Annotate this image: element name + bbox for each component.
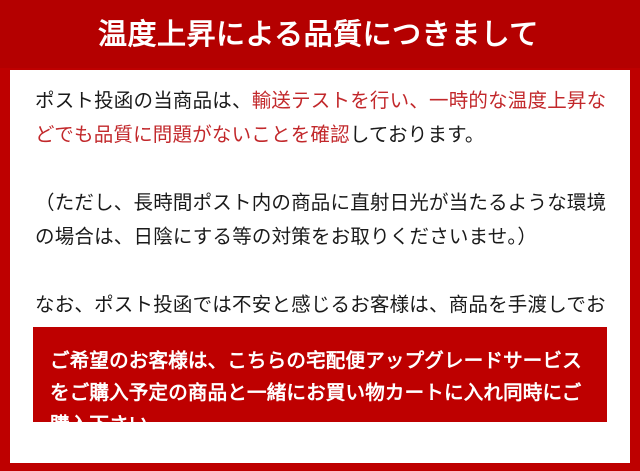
upgrade-service-callout-box: ご希望のお客様は、こちらの宅配便アップグレードサービスをご購入予定の商品と一緒に… bbox=[33, 327, 607, 422]
banner-content-panel: ポスト投函の当商品は、輸送テストを行い、一時的な温度上昇などでも品質に問題がない… bbox=[10, 70, 630, 463]
callout-message: ご希望のお客様は、こちらの宅配便アップグレードサービスをご購入予定の商品と一緒に… bbox=[50, 345, 595, 441]
text-segment: ポスト投函の当商品は、 bbox=[35, 90, 252, 112]
banner-title: 温度上昇による品質につきまして bbox=[98, 18, 539, 52]
text-segment: しております。 bbox=[350, 124, 485, 146]
banner-header-band: 温度上昇による品質につきまして bbox=[0, 0, 640, 68]
paragraph-quality-assurance: ポスト投函の当商品は、輸送テストを行い、一時的な温度上昇などでも品質に問題がない… bbox=[35, 84, 613, 152]
temperature-quality-notice-banner: 温度上昇による品質につきまして ポスト投函の当商品は、輸送テストを行い、一時的な… bbox=[0, 0, 640, 471]
paragraph-sunlight-note: （ただし、長時間ポスト内の商品に直射日光が当たるような環境の場合は、日陰にする等… bbox=[35, 186, 613, 254]
text-segment: （ただし、長時間ポスト内の商品に直射日光が当たるような環境の場合は、日陰にする等… bbox=[35, 192, 606, 248]
